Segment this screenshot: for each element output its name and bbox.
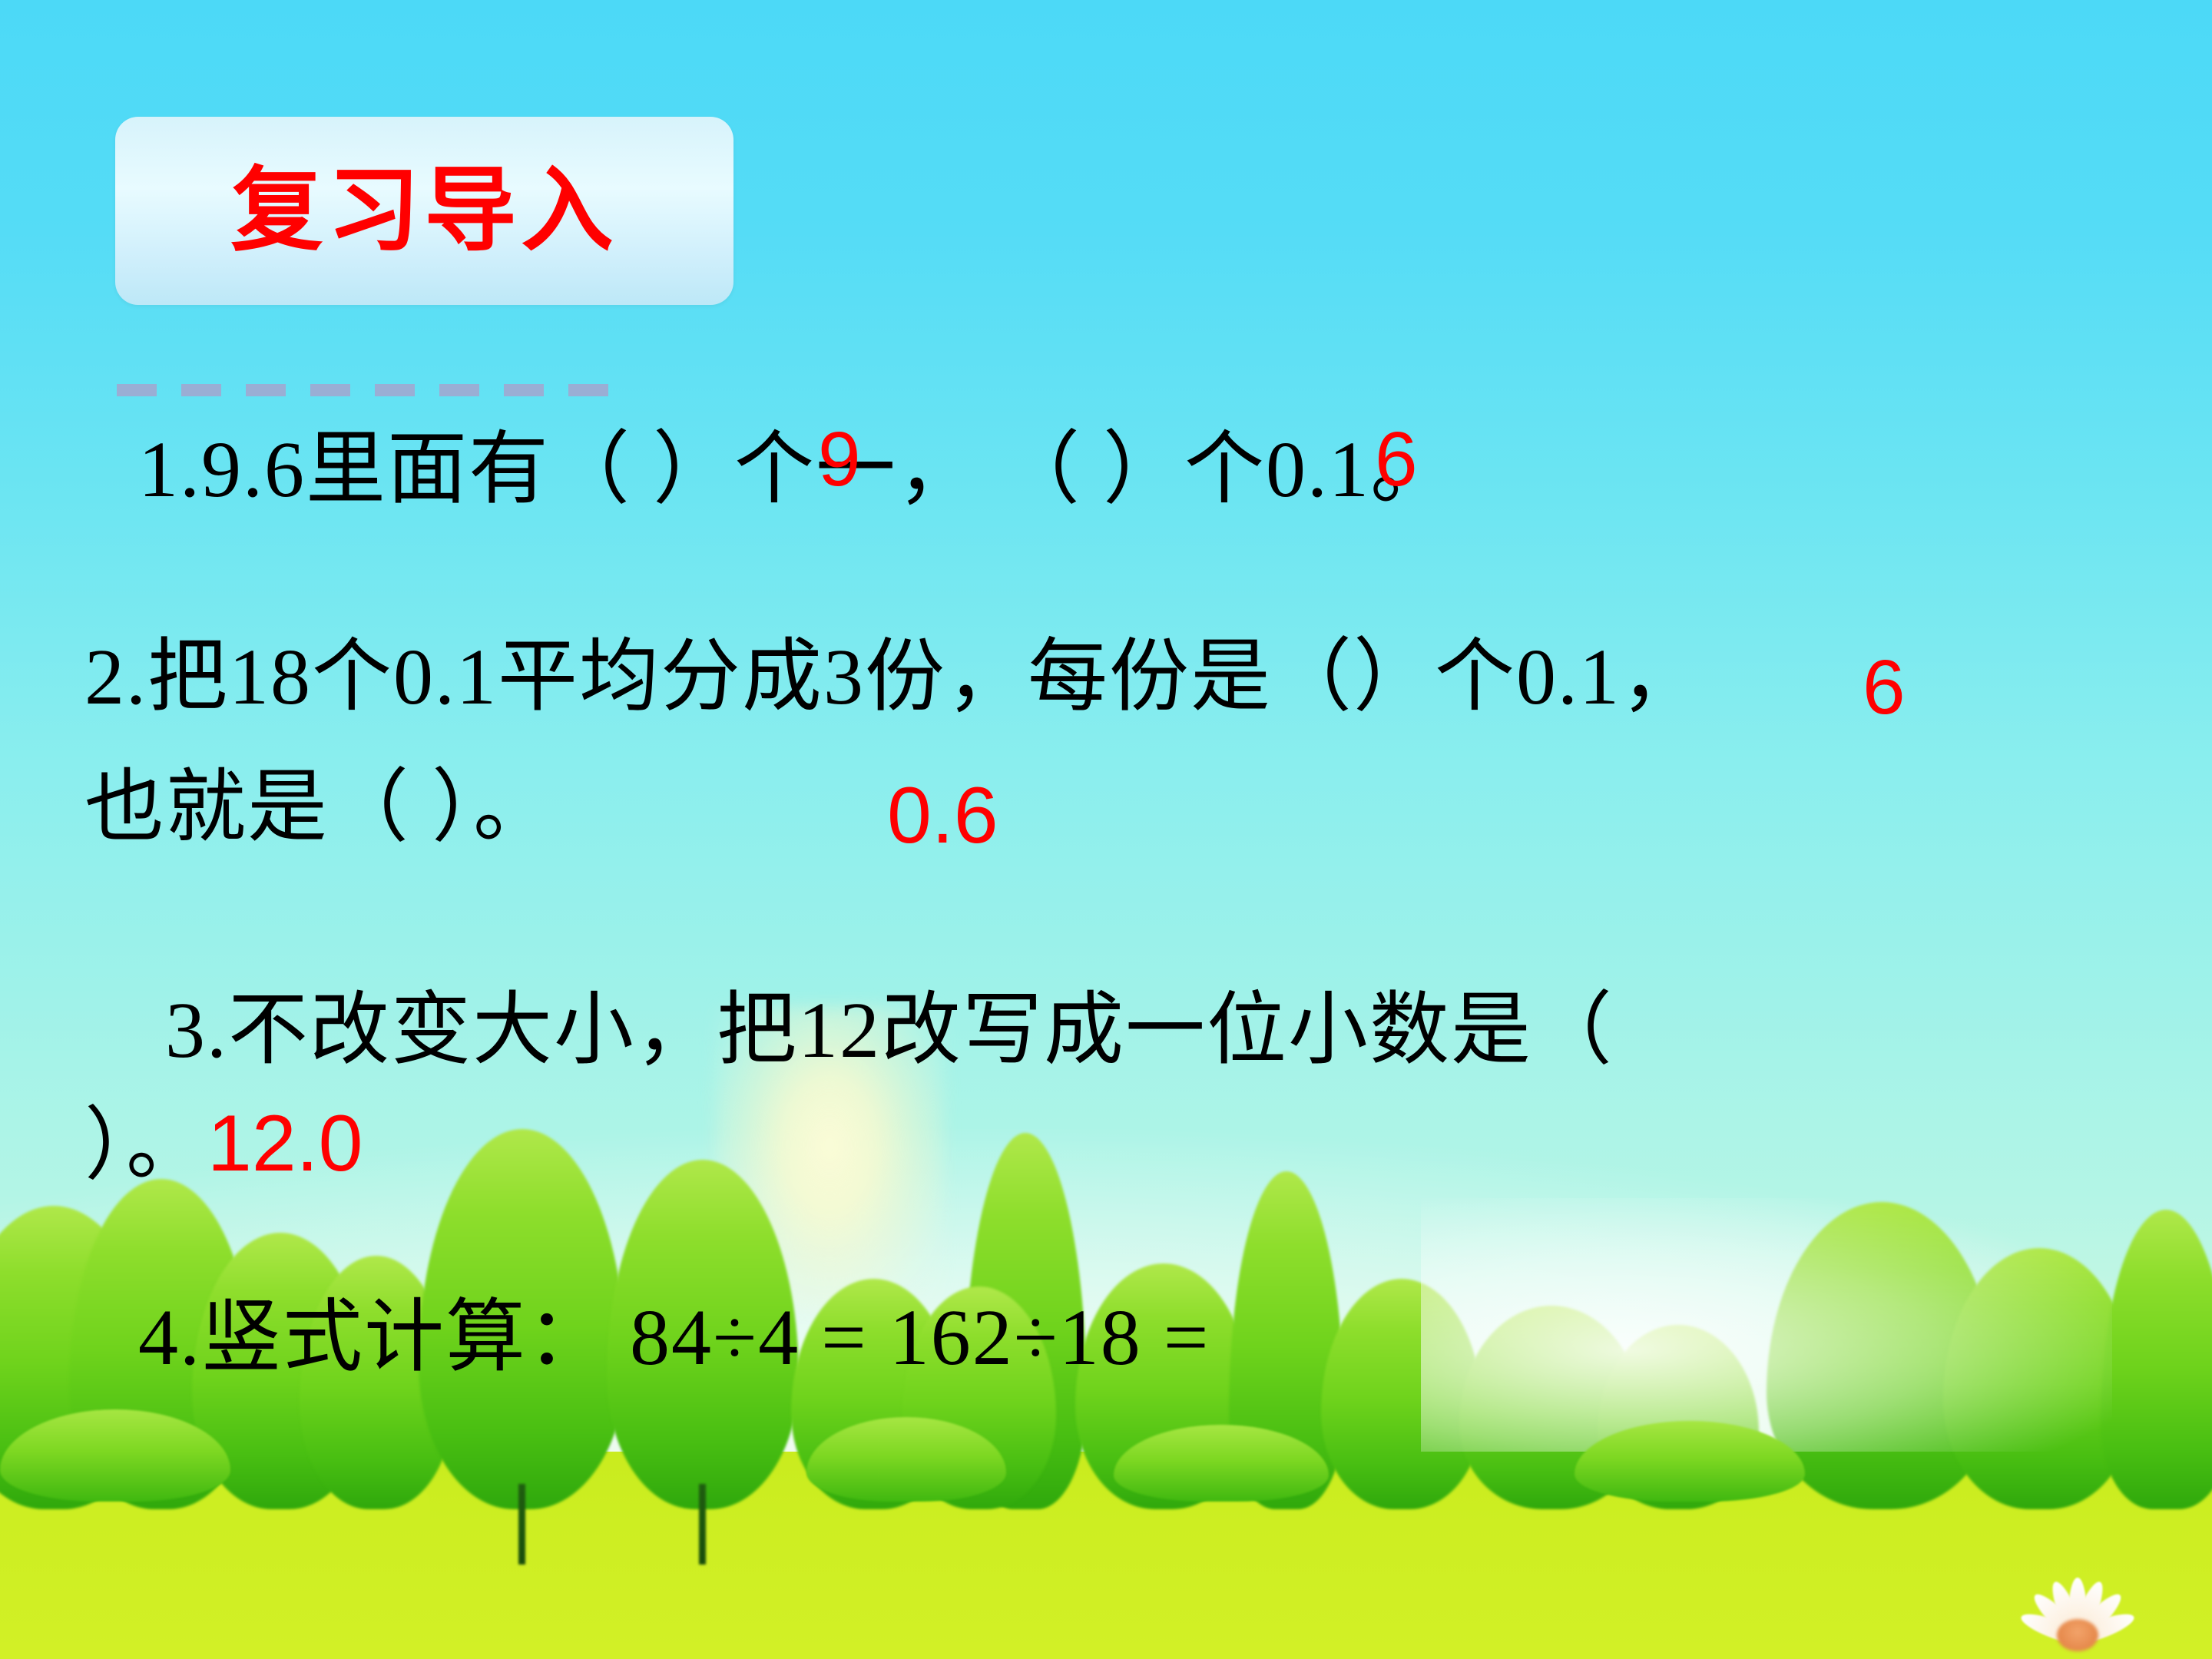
dashed-divider [117, 384, 608, 396]
dash-segment [246, 384, 286, 396]
answer-q2-count: 6 [1863, 649, 1906, 726]
answer-q1-tenths: 6 [1375, 421, 1418, 498]
question-2-line-1: 2.把18个0.1平均分成3份，每份是（）个0.1， [84, 637, 1702, 717]
answer-q1-ones: 9 [818, 421, 861, 498]
dash-segment [439, 384, 479, 396]
question-2-line-2: 也就是（ ）。 [84, 768, 555, 848]
dash-segment [117, 384, 157, 396]
question-3-line-2: ）。 [84, 1106, 207, 1186]
slide-canvas: 复习导入 1.9.6里面有（ ）个一， （ ）个0.1。 9 6 2.把18个0… [0, 0, 2212, 1659]
section-title-box: 复习导入 [115, 117, 733, 305]
daisy-center [2057, 1619, 2098, 1651]
grass-ground-left [0, 1444, 430, 1528]
dash-segment [310, 384, 350, 396]
daisy-flower-icon [1997, 1513, 2158, 1659]
answer-q2-value: 0.6 [887, 776, 998, 856]
cloud-haze [1421, 1198, 2112, 1452]
dash-segment [375, 384, 415, 396]
dash-segment [181, 384, 221, 396]
answer-q3-value: 12.0 [207, 1104, 363, 1184]
question-3-line-1: 3.不改变大小，把12改写成一位小数是（ [165, 991, 1614, 1071]
question-4-text: 4.竖式计算： 84÷4 = 162÷18 = [138, 1298, 1210, 1378]
dash-segment [568, 384, 608, 396]
dash-segment [504, 384, 544, 396]
question-1-text: 1.9.6里面有（ ）个一， （ ）个0.1。 [138, 430, 1452, 510]
page-title: 复习导入 [231, 165, 618, 257]
